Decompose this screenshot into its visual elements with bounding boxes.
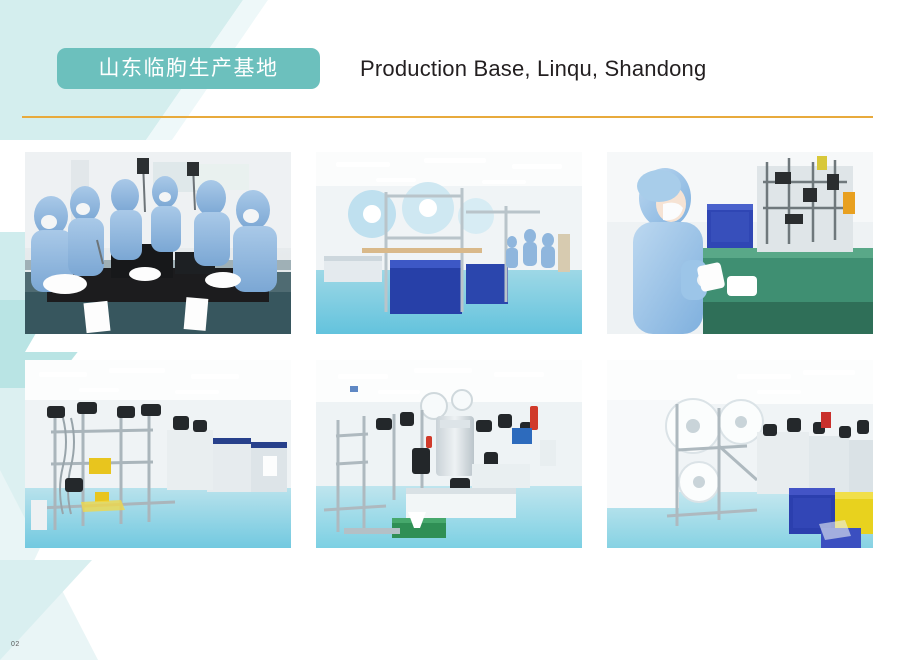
- gallery-photo-4: [25, 360, 291, 548]
- gallery-photo-3: [607, 152, 873, 334]
- header-divider: [22, 116, 873, 118]
- gallery-photo-6: [607, 360, 873, 548]
- gallery-photo-5: [316, 360, 582, 548]
- photo-image-fabric-reels-and-crates: [607, 360, 873, 548]
- gallery-row: [25, 152, 873, 334]
- gallery-photo-2: [316, 152, 582, 334]
- photo-image-cleanroom-conveyor-wide: [25, 360, 291, 548]
- slide-page: 山东临朐生产基地 Production Base, Linqu, Shandon…: [0, 0, 900, 660]
- photo-image-mask-machine-hall: [316, 152, 582, 334]
- section-badge: 山东临朐生产基地: [57, 48, 320, 89]
- gallery-photo-1: [25, 152, 291, 334]
- page-header: 山东临朐生产基地 Production Base, Linqu, Shandon…: [0, 0, 900, 130]
- photo-image-automated-mask-machinery: [316, 360, 582, 548]
- section-badge-label: 山东临朐生产基地: [99, 58, 279, 79]
- page-title: Production Base, Linqu, Shandong: [360, 54, 706, 84]
- photo-image-operator-inspecting-mask: [607, 152, 873, 334]
- photo-gallery: [25, 152, 873, 548]
- photo-image-mask-assembly-line-workers: [25, 152, 291, 334]
- page-number: 02: [11, 641, 20, 648]
- gallery-row: [25, 360, 873, 548]
